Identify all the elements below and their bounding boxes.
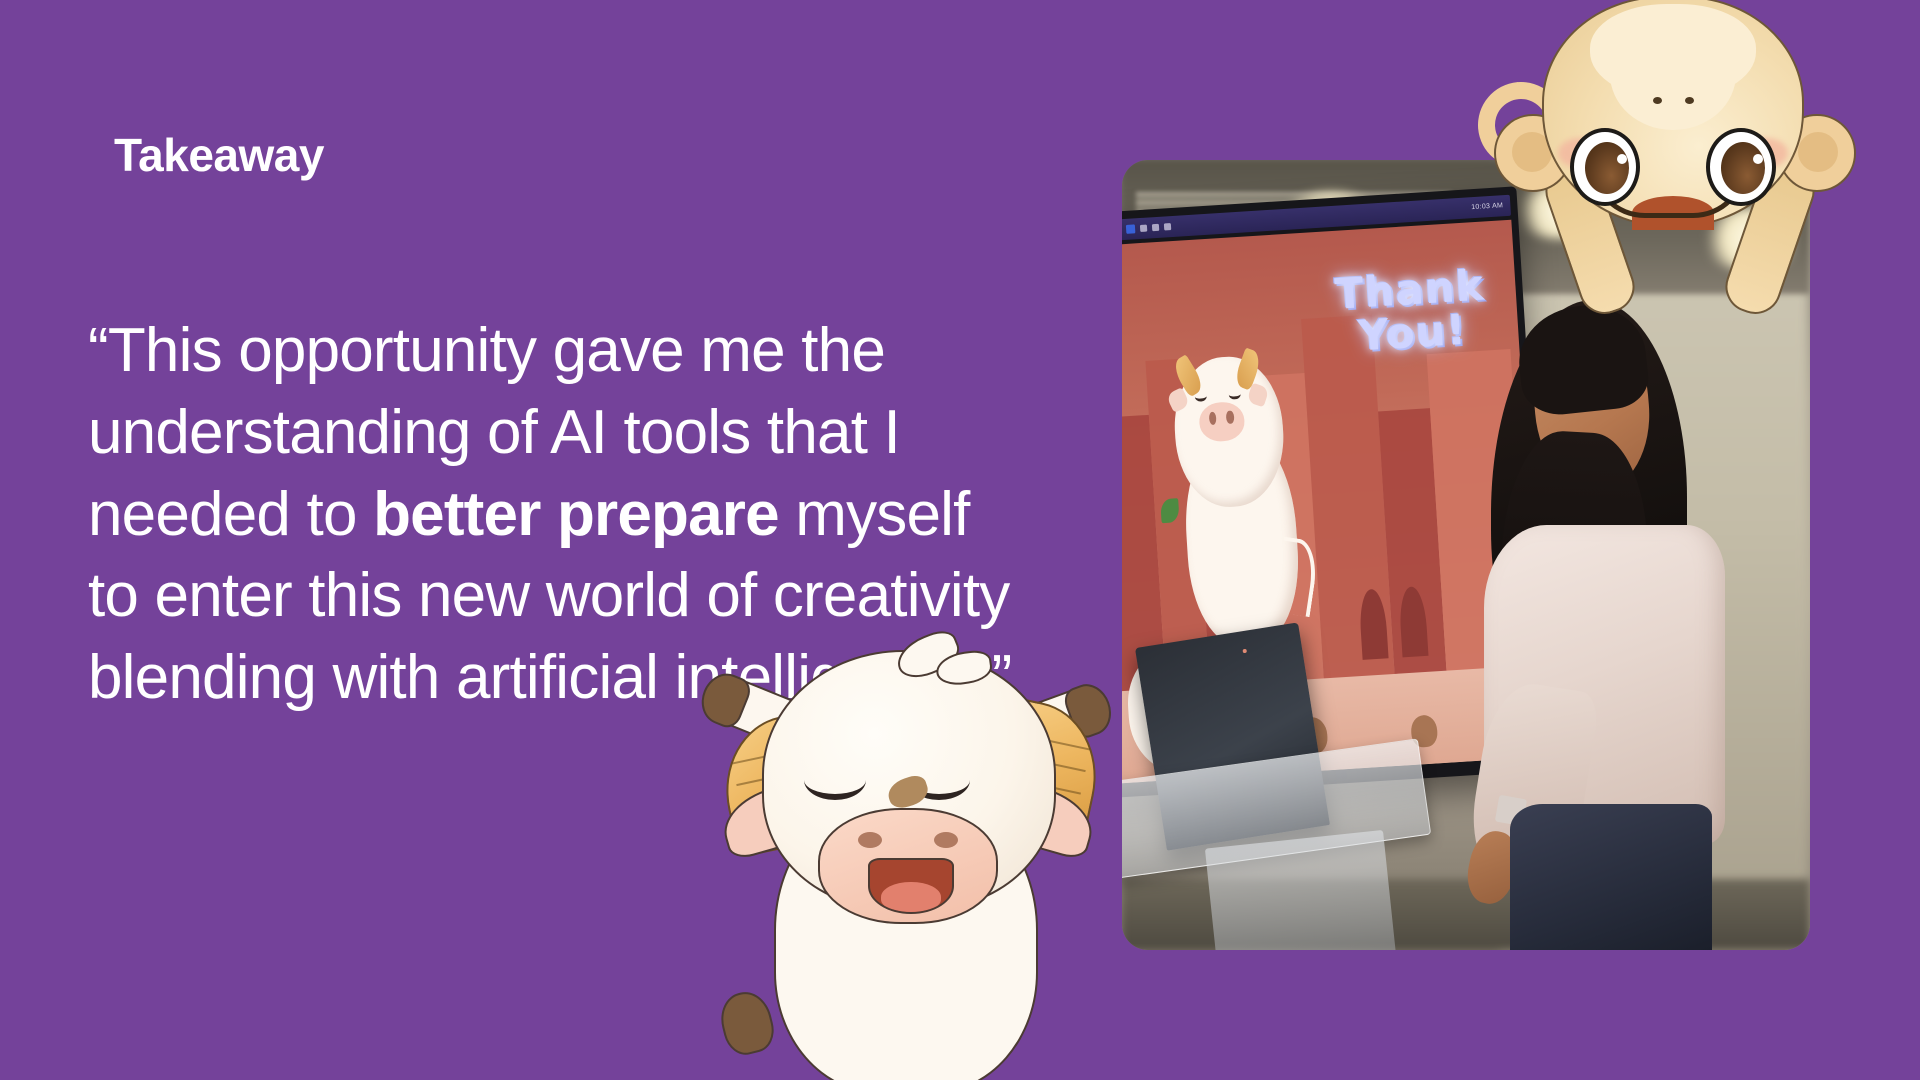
takeaway-slide: Takeaway “This opportunity gave me the u… bbox=[0, 0, 1920, 1080]
cow-mouth bbox=[868, 858, 954, 914]
cow-snout bbox=[818, 808, 998, 924]
cow-nostril bbox=[1226, 410, 1234, 424]
taskbar-clock: 10:03 AM bbox=[1471, 202, 1503, 211]
taskbar-icon bbox=[1140, 224, 1147, 231]
monkey-ear-inner bbox=[1798, 132, 1838, 172]
cow-tail bbox=[715, 987, 779, 1059]
monkey-muzzle-top bbox=[1610, 18, 1736, 130]
taskbar-icon-active bbox=[1126, 224, 1136, 234]
presenter-person bbox=[1459, 286, 1775, 950]
monkey-mascot bbox=[1500, 0, 1850, 320]
page-title: Takeaway bbox=[114, 128, 324, 182]
taskbar-icon bbox=[1164, 223, 1171, 230]
cow-muzzle bbox=[1198, 400, 1246, 442]
presenter-jeans bbox=[1510, 804, 1713, 950]
monkey-pupil bbox=[1721, 142, 1765, 194]
laptop-indicator-icon bbox=[1242, 649, 1247, 654]
cow-horn bbox=[1232, 347, 1264, 390]
leaf-icon bbox=[1160, 498, 1179, 523]
cow-nostril bbox=[934, 832, 958, 848]
monkey-nostril bbox=[1685, 97, 1694, 104]
cow-hoof bbox=[694, 667, 754, 732]
cow-tongue bbox=[881, 882, 940, 912]
cow-nostril bbox=[858, 832, 882, 848]
monkey-eye bbox=[1706, 128, 1776, 206]
cow-mascot bbox=[700, 600, 1120, 1080]
quote-emphasis: better prepare bbox=[373, 480, 779, 549]
monkey-head bbox=[1542, 0, 1804, 228]
lectern-stem bbox=[1205, 830, 1396, 950]
taskbar-icon bbox=[1152, 224, 1159, 231]
monkey-nostril bbox=[1653, 97, 1662, 104]
monkey-eye bbox=[1570, 128, 1640, 206]
monkey-pupil bbox=[1585, 142, 1629, 194]
slide-cow-illustration bbox=[1154, 345, 1322, 655]
monkey-eye-glint bbox=[1753, 154, 1763, 164]
cow-eye bbox=[1194, 391, 1206, 402]
monkey-eye-glint bbox=[1617, 154, 1627, 164]
cow-eye bbox=[804, 760, 866, 800]
cow-eye bbox=[1228, 388, 1240, 399]
